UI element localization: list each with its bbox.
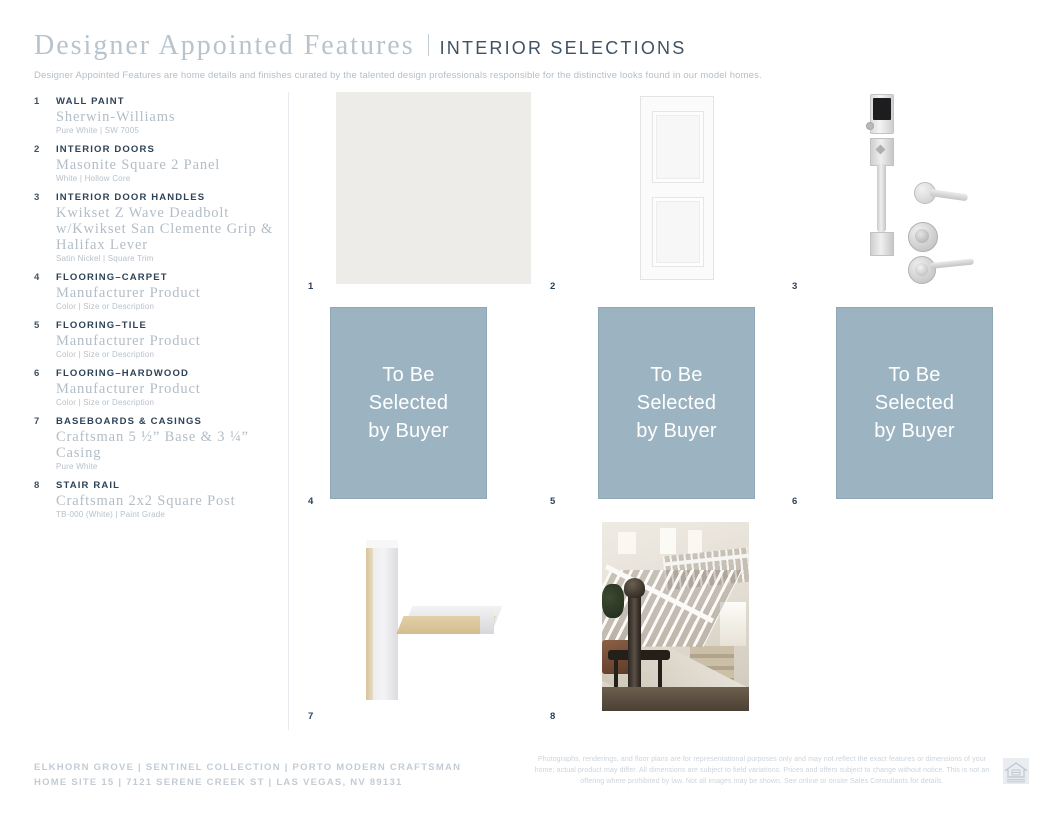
spec-label: WALL PAINT	[56, 96, 125, 107]
to-be-selected-tile: To Be Selected by Buyer	[330, 307, 487, 499]
content-divider	[288, 92, 289, 730]
handleset-grip-bar	[877, 164, 886, 232]
grid-cell-number: 1	[308, 281, 314, 292]
handleset-grip-bottom	[870, 232, 894, 256]
to-be-selected-tile: To Be Selected by Buyer	[836, 307, 993, 499]
spec-head: 2 INTERIOR DOORS	[34, 144, 274, 155]
spec-body: Craftsman 5 ½” Base & 3 ¼” Casing Pure W…	[34, 429, 274, 471]
spec-body: Manufacturer Product Color | Size or Des…	[34, 333, 274, 359]
spec-detail: Color | Size or Description	[56, 350, 274, 359]
spec-product: Manufacturer Product	[56, 285, 274, 301]
lever-hub-lower	[915, 263, 928, 276]
to-be-selected-label: To Be Selected by Buyer	[368, 361, 449, 445]
door-panel-bottom	[652, 197, 704, 267]
spec-detail: Pure White | SW 7005	[56, 126, 274, 135]
grid-cell-number: 6	[792, 496, 798, 507]
grid-cell-number: 3	[792, 281, 798, 292]
halifax-lever-upper	[930, 189, 969, 201]
hardware-group	[858, 94, 988, 286]
page-title: Designer Appointed Features INTERIOR SEL…	[34, 30, 1024, 62]
spec-head: 3 INTERIOR DOOR HANDLES	[34, 192, 274, 203]
casing-end-edge	[480, 608, 494, 634]
grid-cell-4: To Be Selected by Buyer 4	[308, 307, 550, 507]
grid-cell-2: 2	[550, 92, 792, 292]
page-footer: ELKHORN GROVE | SENTINEL COLLECTION | PO…	[0, 748, 1055, 815]
spec-head: 6 FLOORING–HARDWOOD	[34, 368, 274, 379]
spec-body: Craftsman 2x2 Square Post TB-000 (White)…	[34, 493, 274, 519]
keypad-screen	[873, 98, 891, 120]
spec-item-interior-door-handles: 3 INTERIOR DOOR HANDLES Kwikset Z Wave D…	[34, 192, 274, 263]
grid-cell-number: 4	[308, 496, 314, 507]
to-be-selected-tile: To Be Selected by Buyer	[598, 307, 755, 499]
page-title-main: Designer Appointed Features	[34, 30, 415, 62]
spec-number: 6	[34, 368, 56, 379]
photo-window-light-1	[618, 532, 636, 554]
spec-head: 4 FLOORING–CARPET	[34, 272, 274, 283]
spec-label: FLOORING–CARPET	[56, 272, 168, 283]
spec-product: Masonite Square 2 Panel	[56, 157, 274, 173]
door-hardware-image	[858, 94, 988, 286]
grid-cell-6: To Be Selected by Buyer 6	[792, 307, 1018, 507]
specification-list: 1 WALL PAINT Sherwin-Williams Pure White…	[34, 96, 274, 528]
spec-body: Sherwin-Williams Pure White | SW 7005	[34, 109, 274, 135]
spec-label: FLOORING–HARDWOOD	[56, 368, 189, 379]
footer-community-info: ELKHORN GROVE | SENTINEL COLLECTION | PO…	[34, 760, 461, 790]
spec-number: 7	[34, 416, 56, 427]
spec-item-stair-rail: 8 STAIR RAIL Craftsman 2x2 Square Post T…	[34, 480, 274, 519]
spec-number: 1	[34, 96, 56, 107]
baseboard-casing-image	[352, 522, 512, 712]
spec-number: 2	[34, 144, 56, 155]
spec-body: Manufacturer Product Color | Size or Des…	[34, 381, 274, 407]
footer-disclaimer: Photographs, renderings, and floor plans…	[527, 754, 997, 787]
spec-product: Craftsman 5 ½” Base & 3 ¼” Casing	[56, 429, 274, 461]
page-header: Designer Appointed Features INTERIOR SEL…	[34, 30, 1024, 81]
grid-cell-1: 1	[308, 92, 550, 292]
spec-body: Manufacturer Product Color | Size or Des…	[34, 285, 274, 311]
equal-housing-opportunity-icon	[1003, 758, 1029, 784]
deadbolt-cylinder	[915, 229, 929, 243]
spec-body: Masonite Square 2 Panel White | Hollow C…	[34, 157, 274, 183]
spec-item-flooring-hardwood: 6 FLOORING–HARDWOOD Manufacturer Product…	[34, 368, 274, 407]
baseboard-mdf-core	[366, 544, 373, 700]
grid-cell-number: 5	[550, 496, 556, 507]
page-title-sub: INTERIOR SELECTIONS	[440, 38, 687, 59]
spec-body: Kwikset Z Wave Deadbolt w/Kwikset San Cl…	[34, 205, 274, 263]
spec-label: INTERIOR DOOR HANDLES	[56, 192, 205, 203]
grid-cell-number: 7	[308, 711, 314, 722]
spec-item-flooring-carpet: 4 FLOORING–CARPET Manufacturer Product C…	[34, 272, 274, 311]
grid-cell-number: 8	[550, 711, 556, 722]
spec-product: Manufacturer Product	[56, 333, 274, 349]
door-panel-top	[652, 111, 704, 183]
spec-item-baseboards-casings: 7 BASEBOARDS & CASINGS Craftsman 5 ½” Ba…	[34, 416, 274, 471]
footer-line-1: ELKHORN GROVE | SENTINEL COLLECTION | PO…	[34, 760, 461, 775]
photo-window-light-3	[688, 530, 702, 554]
spec-number: 8	[34, 480, 56, 491]
photo-newel-post	[628, 584, 641, 700]
grid-cell-8: 8	[550, 522, 792, 722]
spec-head: 8 STAIR RAIL	[34, 480, 274, 491]
spec-head: 7 BASEBOARDS & CASINGS	[34, 416, 274, 427]
photo-newel-finial	[624, 578, 645, 598]
spec-detail: Satin Nickel | Square Trim	[56, 254, 274, 263]
keypad-keyhole	[866, 122, 874, 130]
spec-label: BASEBOARDS & CASINGS	[56, 416, 202, 427]
spec-item-interior-doors: 2 INTERIOR DOORS Masonite Square 2 Panel…	[34, 144, 274, 183]
spec-number: 4	[34, 272, 56, 283]
spec-detail: White | Hollow Core	[56, 174, 274, 183]
photo-plant	[602, 584, 624, 618]
spec-number: 5	[34, 320, 56, 331]
photo-window-light-2	[660, 528, 676, 554]
to-be-selected-label: To Be Selected by Buyer	[874, 361, 955, 445]
photo-window	[720, 602, 746, 646]
grid-cell-number: 2	[550, 281, 556, 292]
spec-product: Craftsman 2x2 Square Post	[56, 493, 274, 509]
stair-photo-frame	[602, 522, 749, 711]
spec-detail: TB-000 (White) | Paint Grade	[56, 510, 274, 519]
spec-detail: Color | Size or Description	[56, 302, 274, 311]
halifax-lever-lower	[930, 258, 974, 269]
stair-rail-photo	[602, 522, 749, 711]
title-divider	[428, 34, 429, 56]
spec-item-flooring-tile: 5 FLOORING–TILE Manufacturer Product Col…	[34, 320, 274, 359]
spec-head: 5 FLOORING–TILE	[34, 320, 274, 331]
spec-label: INTERIOR DOORS	[56, 144, 155, 155]
spec-product: Manufacturer Product	[56, 381, 274, 397]
spec-label: FLOORING–TILE	[56, 320, 147, 331]
spec-label: STAIR RAIL	[56, 480, 120, 491]
page-subtitle: Designer Appointed Features are home det…	[34, 70, 1024, 81]
grid-cell-5: To Be Selected by Buyer 5	[550, 307, 792, 507]
spec-product: Kwikset Z Wave Deadbolt w/Kwikset San Cl…	[56, 205, 274, 253]
door-slab	[640, 96, 714, 280]
grid-cell-7: 7	[308, 522, 550, 722]
spec-number: 3	[34, 192, 56, 203]
keypad-deadbolt-icon	[870, 94, 894, 134]
selection-image-grid: 1 2	[308, 92, 1018, 730]
baseboard-top-edge	[366, 540, 398, 548]
spec-product: Sherwin-Williams	[56, 109, 274, 125]
footer-line-2: HOME SITE 15 | 7121 SERENE CREEK ST | LA…	[34, 775, 461, 790]
spec-item-wall-paint: 1 WALL PAINT Sherwin-Williams Pure White…	[34, 96, 274, 135]
photo-floor	[602, 687, 749, 711]
grid-cell-3: 3	[792, 92, 1018, 292]
spec-detail: Pure White	[56, 462, 274, 471]
to-be-selected-label: To Be Selected by Buyer	[636, 361, 717, 445]
trim-group	[352, 522, 512, 712]
wall-paint-swatch	[336, 92, 531, 284]
interior-door-image	[640, 96, 714, 280]
spec-head: 1 WALL PAINT	[34, 96, 274, 107]
spec-detail: Color | Size or Description	[56, 398, 274, 407]
